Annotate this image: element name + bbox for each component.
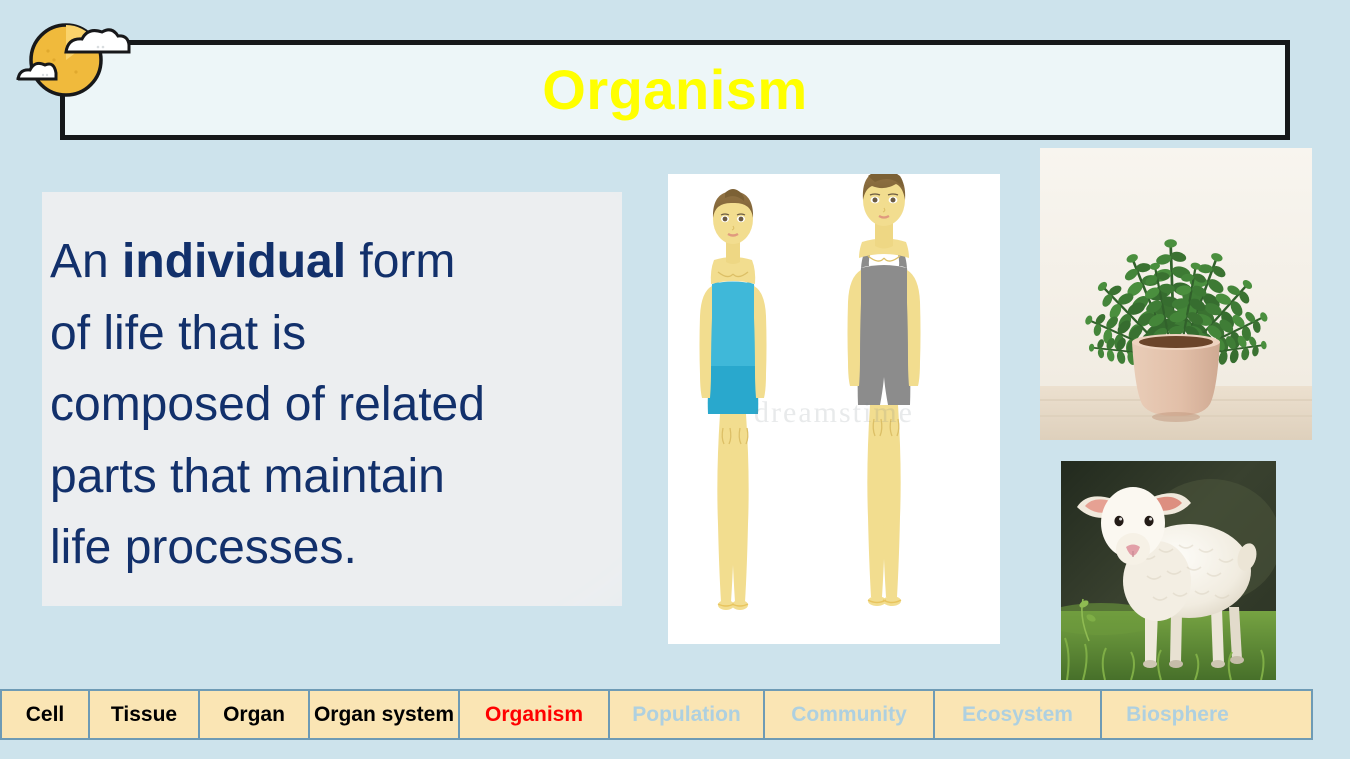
definition-line-5: life processes. [50,521,357,574]
organization-hierarchy-bar: CellTissueOrganOrgan systemOrganismPopul… [0,689,1313,740]
hierarchy-level-label: Population [632,703,741,727]
hierarchy-level-population[interactable]: Population [610,691,765,738]
potted-zz-plant-photo [1040,148,1312,440]
hierarchy-level-label: Cell [26,703,65,727]
title-banner: Organism [60,40,1290,140]
white-lamb-photo [1061,461,1276,680]
female-figure [700,189,767,610]
page-title: Organism [542,62,807,118]
hierarchy-level-organ[interactable]: Organ [200,691,310,738]
definition-panel: An individual form of life that is compo… [42,192,622,606]
definition-line-2: of life that is [50,307,306,360]
human-figures-illustration: dreamstime [668,174,1000,644]
hierarchy-level-tissue[interactable]: Tissue [90,691,200,738]
definition-text: An individual form of life that is compo… [50,226,592,584]
male-figure [848,174,921,606]
hierarchy-level-cell[interactable]: Cell [2,691,90,738]
definition-line-4: parts that maintain [50,450,445,503]
hierarchy-level-label: Biosphere [1126,703,1229,727]
hierarchy-level-label: Organ [223,703,285,727]
hierarchy-level-label: Organ system [314,703,454,727]
hierarchy-level-label: Tissue [111,703,177,727]
sun-clouds-icon [14,14,164,114]
hierarchy-level-ecosystem[interactable]: Ecosystem [935,691,1102,738]
hierarchy-level-biosphere[interactable]: Biosphere [1102,691,1253,738]
definition-emphasis: individual [122,235,346,288]
hierarchy-level-label: Community [791,703,907,727]
definition-line-1-prefix: An [50,235,122,288]
hierarchy-level-community[interactable]: Community [765,691,935,738]
definition-line-3: composed of related [50,378,485,431]
hierarchy-level-label: Ecosystem [962,703,1073,727]
hierarchy-level-organism[interactable]: Organism [460,691,610,738]
definition-line-1-suffix: form [346,235,455,288]
hierarchy-level-organ-system[interactable]: Organ system [310,691,460,738]
hierarchy-level-label: Organism [485,703,583,727]
